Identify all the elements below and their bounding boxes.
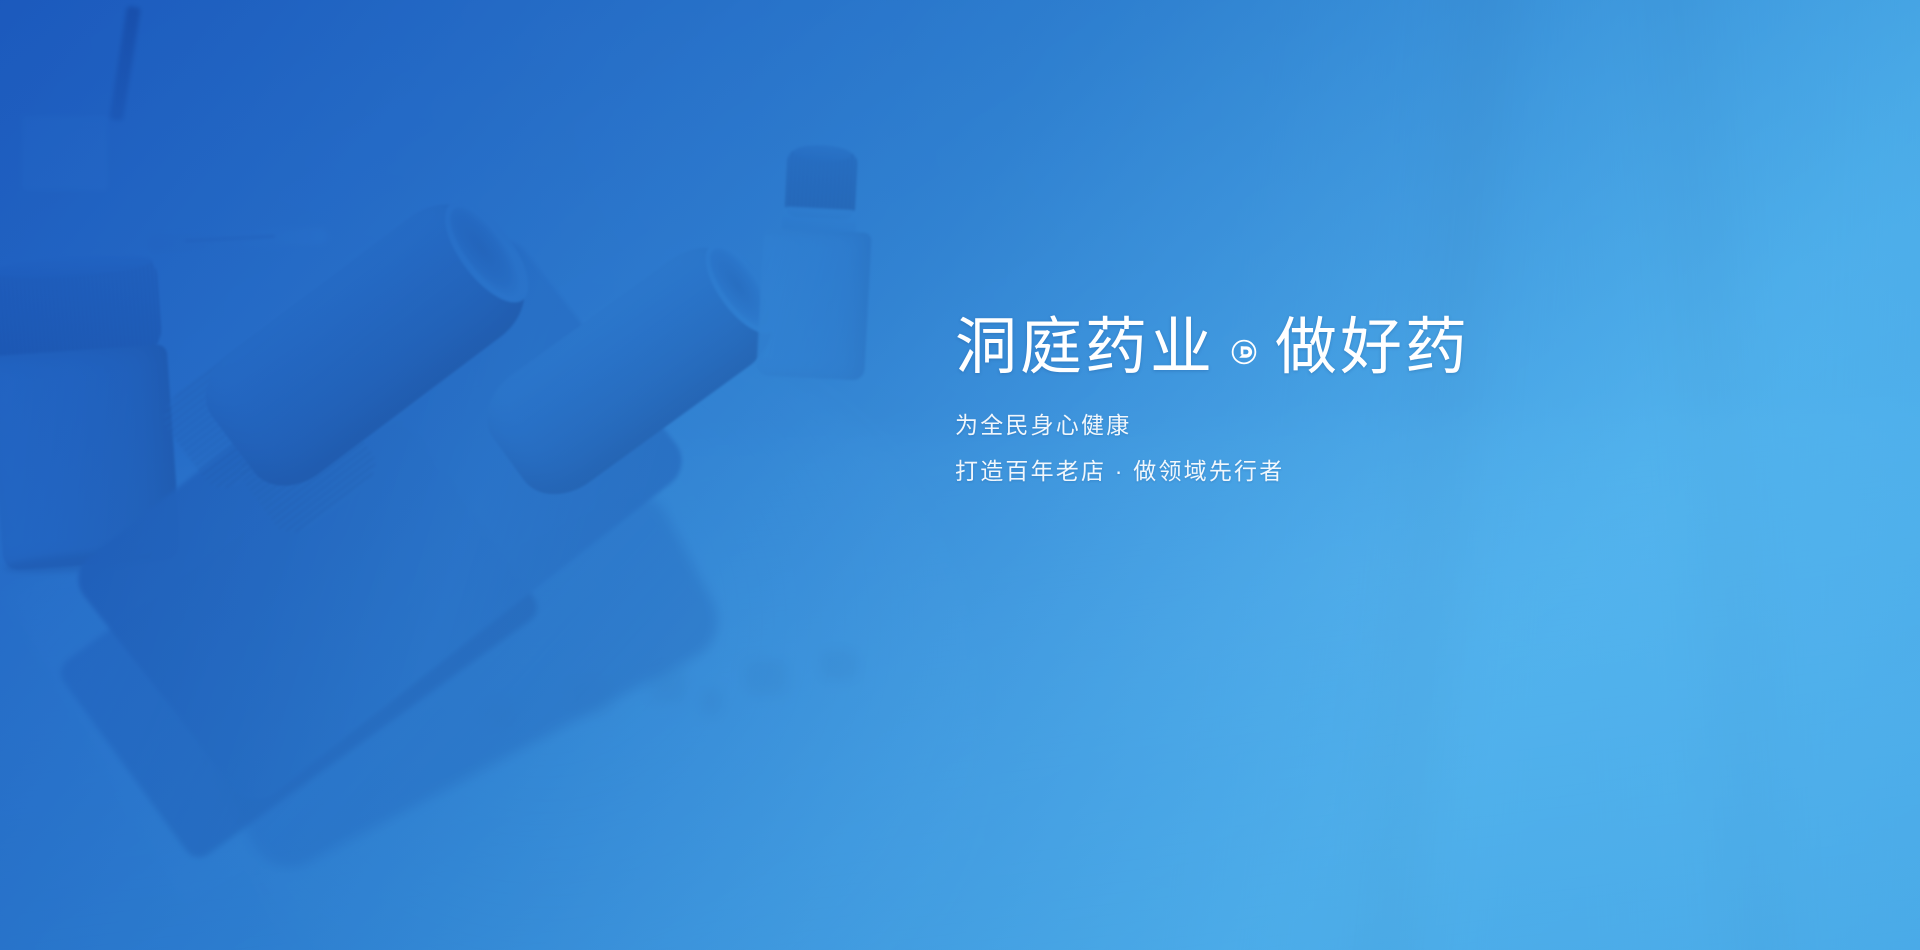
- subtitle-line-1: 为全民身心健康: [955, 414, 1675, 437]
- hero-banner: 洞庭药业 做好药 为全民身心健康 打造百年老店 · 做领域先行者: [0, 0, 1920, 950]
- company-logo-icon: [1231, 339, 1257, 365]
- title-slogan: 做好药: [1275, 315, 1470, 380]
- title-company-name: 洞庭药业: [955, 315, 1215, 380]
- subtitle-line-2: 打造百年老店 · 做领域先行者: [955, 460, 1675, 483]
- hero-text-block: 洞庭药业 做好药 为全民身心健康 打造百年老店 · 做领域先行者: [955, 315, 1675, 483]
- page-title: 洞庭药业 做好药: [955, 315, 1675, 380]
